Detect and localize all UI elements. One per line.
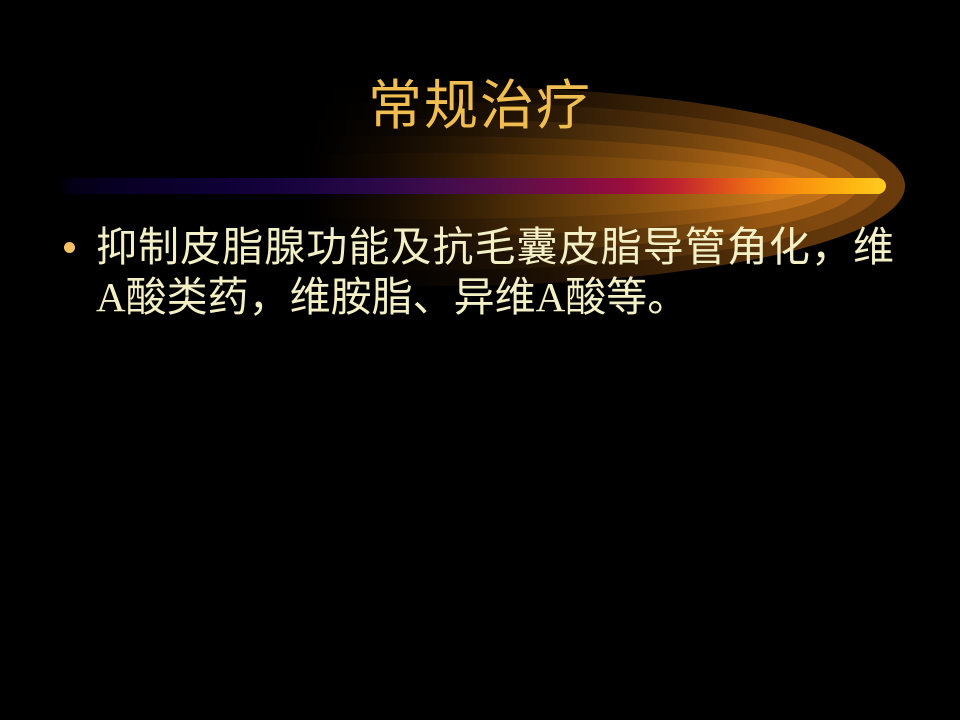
slide-title-container: 常规治疗 bbox=[0, 78, 960, 135]
presentation-slide: 常规治疗 抑制皮脂腺功能及抗毛囊皮脂导管角化，维A酸类药，维胺脂、异维A酸等。 bbox=[0, 0, 960, 720]
bullet-item-text: 抑制皮脂腺功能及抗毛囊皮脂导管角化，维A酸类药，维胺脂、异维A酸等。 bbox=[96, 222, 894, 322]
bullet-marker bbox=[64, 222, 96, 253]
bullet-dot-icon bbox=[64, 242, 75, 253]
slide-body-container: 抑制皮脂腺功能及抗毛囊皮脂导管角化，维A酸类药，维胺脂、异维A酸等。 bbox=[64, 222, 894, 322]
page-title: 常规治疗 bbox=[368, 78, 592, 135]
list-item: 抑制皮脂腺功能及抗毛囊皮脂导管角化，维A酸类药，维胺脂、异维A酸等。 bbox=[64, 222, 894, 322]
